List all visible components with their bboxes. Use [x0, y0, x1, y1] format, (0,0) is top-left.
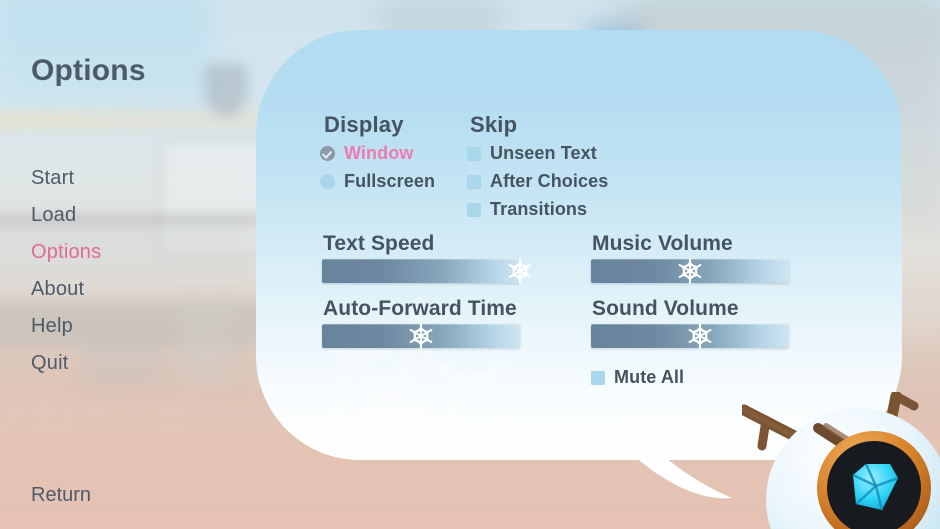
snowflake-icon[interactable]	[685, 321, 715, 351]
return-button[interactable]: Return	[31, 484, 91, 507]
skip-option-after-choices-label: After Choices	[490, 171, 608, 192]
mute-all-label: Mute All	[614, 367, 684, 388]
skip-option-after-choices[interactable]: After Choices	[467, 171, 608, 192]
nav-item-options[interactable]: Options	[31, 234, 231, 271]
text-speed-slider[interactable]	[322, 259, 520, 283]
display-option-window-label: Window	[344, 143, 413, 164]
text-speed-label: Text Speed	[323, 232, 434, 256]
skip-option-transitions-label: Transitions	[490, 199, 587, 220]
main-menu-nav: Start Load Options About Help Quit	[31, 160, 231, 382]
checkbox-unchecked-icon[interactable]	[591, 371, 605, 385]
display-option-fullscreen[interactable]: Fullscreen	[320, 171, 435, 192]
skip-option-transitions[interactable]: Transitions	[467, 199, 587, 220]
display-group-heading: Display	[324, 112, 404, 138]
nav-item-about[interactable]: About	[31, 271, 231, 308]
radio-unselected-icon[interactable]	[320, 174, 335, 189]
snowman-character	[742, 392, 940, 529]
skip-option-unseen-text[interactable]: Unseen Text	[467, 143, 597, 164]
checkbox-unchecked-icon[interactable]	[467, 147, 481, 161]
auto-forward-time-label: Auto-Forward Time	[323, 297, 517, 321]
radio-selected-icon[interactable]	[320, 146, 335, 161]
music-volume-slider[interactable]	[591, 259, 789, 283]
mute-all-option[interactable]: Mute All	[591, 367, 684, 388]
sound-volume-slider[interactable]	[591, 324, 789, 348]
options-screen: Options Start Load Options About Help Qu…	[0, 0, 940, 529]
skip-group-heading: Skip	[470, 112, 517, 138]
nav-item-quit[interactable]: Quit	[31, 345, 231, 382]
page-title: Options	[31, 54, 146, 88]
sound-volume-label: Sound Volume	[592, 297, 739, 321]
nav-item-help[interactable]: Help	[31, 308, 231, 345]
music-volume-label: Music Volume	[592, 232, 733, 256]
snowflake-icon[interactable]	[675, 256, 705, 286]
checkbox-unchecked-icon[interactable]	[467, 203, 481, 217]
background-lamp	[205, 64, 247, 116]
checkbox-unchecked-icon[interactable]	[467, 175, 481, 189]
display-option-fullscreen-label: Fullscreen	[344, 171, 435, 192]
snowflake-icon[interactable]	[505, 256, 535, 286]
snowflake-icon[interactable]	[406, 321, 436, 351]
nav-item-start[interactable]: Start	[31, 160, 231, 197]
skip-option-unseen-text-label: Unseen Text	[490, 143, 597, 164]
display-option-window[interactable]: Window	[320, 143, 413, 164]
auto-forward-time-slider[interactable]	[322, 324, 520, 348]
nav-item-load[interactable]: Load	[31, 197, 231, 234]
